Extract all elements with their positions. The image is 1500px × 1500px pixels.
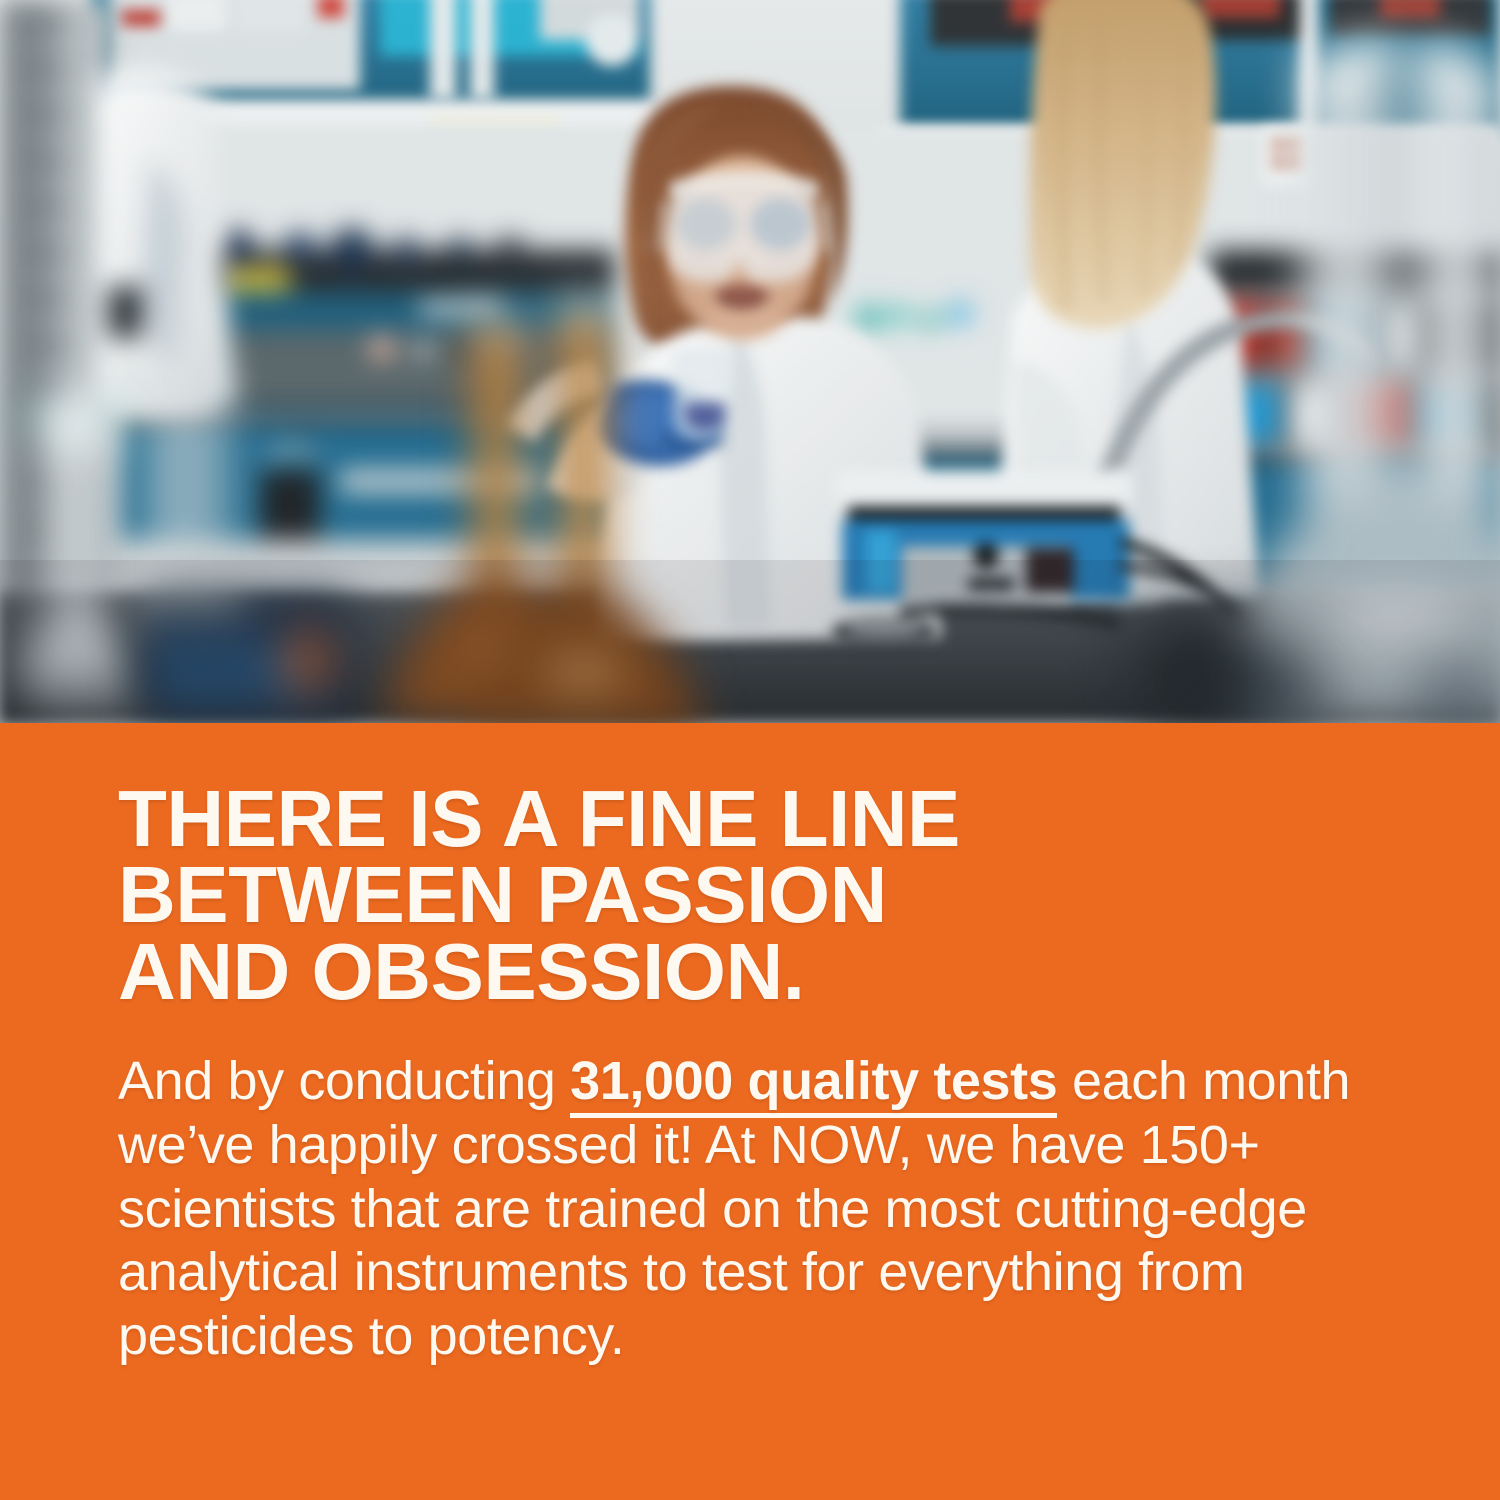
body-copy: And by conducting 31,000 quality tests e… (118, 1050, 1380, 1369)
marketing-card: 500 (0, 0, 1500, 1500)
body-lead: And by conducting (118, 1051, 570, 1111)
lab-photo: 500 (0, 0, 1500, 723)
message-panel: THERE IS A FINE LINE BETWEEN PASSION AND… (0, 723, 1500, 1500)
page-title: THERE IS A FINE LINE BETWEEN PASSION AND… (118, 781, 1380, 1010)
quality-tests-emphasis: 31,000 quality tests (570, 1051, 1057, 1118)
